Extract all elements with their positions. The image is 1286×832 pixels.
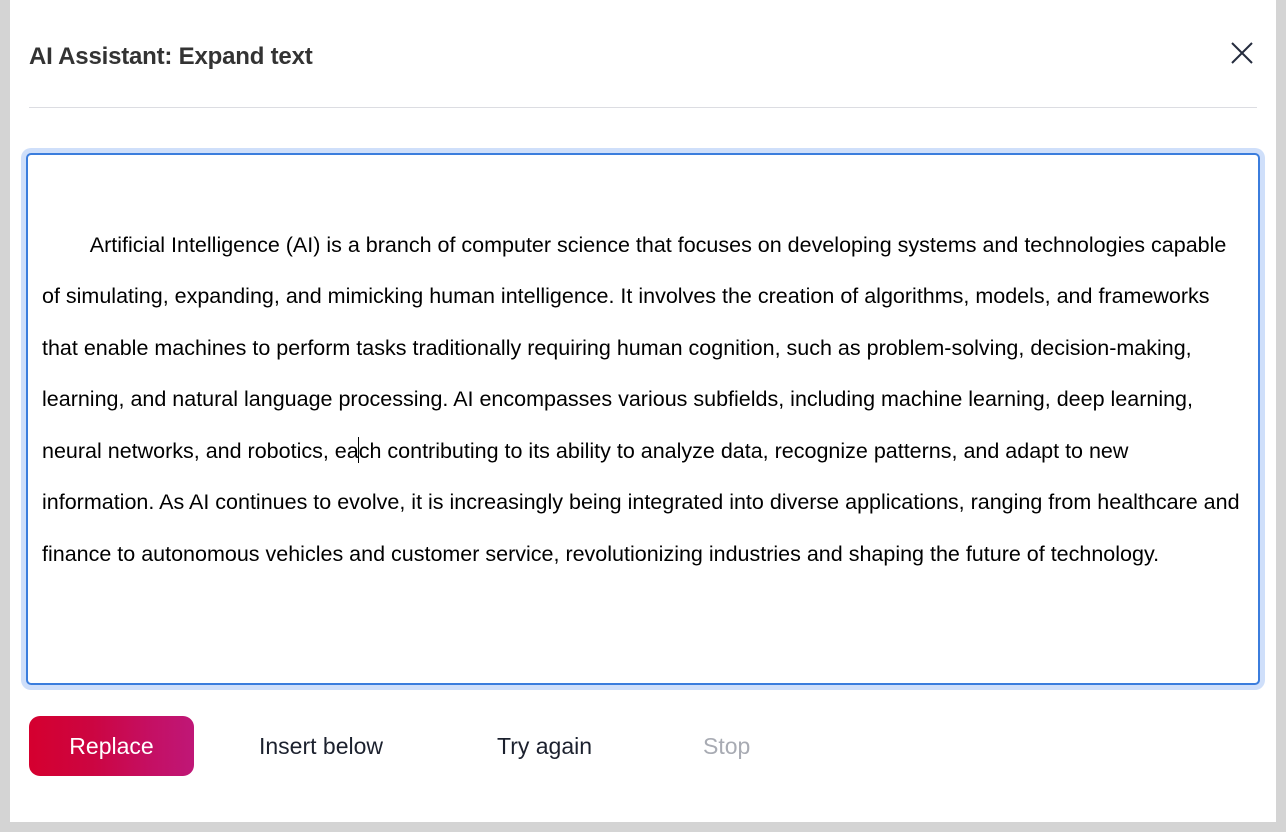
replace-button[interactable]: Replace <box>29 716 194 776</box>
insert-below-button[interactable]: Insert below <box>259 716 383 776</box>
close-button[interactable] <box>1225 36 1259 70</box>
generated-text-content[interactable]: Artificial Intelligence (AI) is a branch… <box>28 155 1258 683</box>
close-icon <box>1228 39 1256 67</box>
dialog-actions: Replace Insert below Try again Stop <box>10 708 1276 774</box>
try-again-button[interactable]: Try again <box>497 716 592 776</box>
ai-assistant-dialog: AI Assistant: Expand text Artificial Int… <box>10 0 1276 822</box>
dialog-header: AI Assistant: Expand text <box>10 0 1276 108</box>
dialog-body: Artificial Intelligence (AI) is a branch… <box>10 108 1276 822</box>
stop-button: Stop <box>703 716 750 776</box>
text-before-caret: Artificial Intelligence (AI) is a branch… <box>42 233 1232 463</box>
generated-text-editor[interactable]: Artificial Intelligence (AI) is a branch… <box>26 153 1260 685</box>
page-title: AI Assistant: Expand text <box>29 45 313 69</box>
